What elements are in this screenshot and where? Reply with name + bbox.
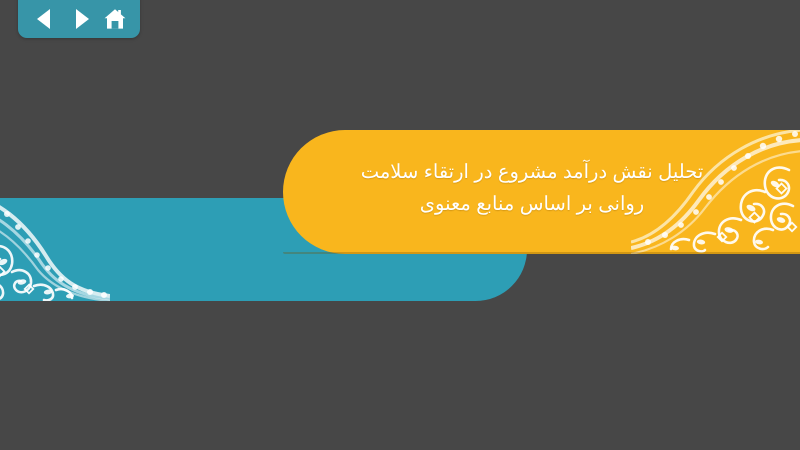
- next-slide-button[interactable]: [66, 5, 96, 33]
- page-title: تحلیل نقش درآمد مشروع در ارتقاء سلامت رو…: [323, 156, 741, 220]
- presentation-slide: تحلیل نقش درآمد مشروع در ارتقاء سلامت رو…: [0, 0, 800, 450]
- slide-title-banner: تحلیل نقش درآمد مشروع در ارتقاء سلامت رو…: [283, 130, 800, 254]
- slide-title-line-2: روانی بر اساس منابع معنوی: [323, 188, 741, 220]
- slide-navigation-buttons: [18, 0, 140, 38]
- teal-arabesque-ornament-icon: [0, 176, 110, 301]
- triangle-right-icon: [71, 8, 91, 30]
- slide-navigation-toolbar: [18, 0, 140, 38]
- home-slide-button[interactable]: [100, 5, 130, 33]
- slide-title-line-1: تحلیل نقش درآمد مشروع در ارتقاء سلامت: [323, 156, 741, 188]
- triangle-left-icon: [35, 8, 55, 30]
- home-icon: [103, 7, 127, 31]
- previous-slide-button[interactable]: [30, 5, 60, 33]
